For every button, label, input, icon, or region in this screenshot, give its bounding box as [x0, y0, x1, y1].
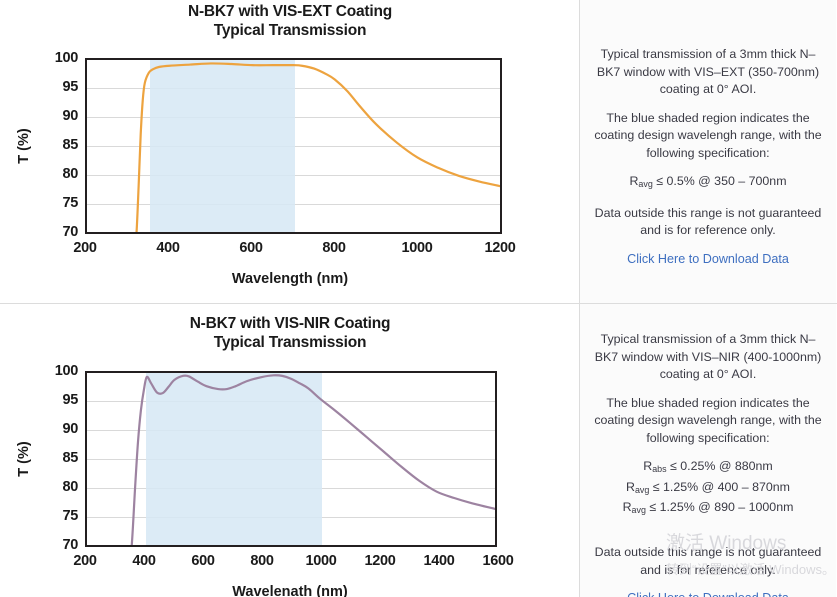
y-tick-90-1: 90: [34, 108, 78, 124]
download-data-link-1[interactable]: Click Here to Download Data: [627, 251, 789, 269]
y-tick-100-1: 100: [34, 50, 78, 66]
y-tick-70-1: 70: [34, 224, 78, 240]
y-tick-85-2: 85: [34, 450, 78, 466]
x-tick-600-2: 600: [173, 553, 233, 569]
x-tick-200-1: 200: [55, 240, 115, 256]
transmission-curve-vis-ext: [87, 60, 500, 232]
y-tick-75-1: 75: [34, 195, 78, 211]
chart-title-line1: N-BK7 with VIS-NIR Coating: [0, 314, 580, 333]
plot-area-vis-nir: [85, 371, 497, 547]
y-tick-95-1: 95: [34, 79, 78, 95]
y-tick-100-2: 100: [34, 363, 78, 379]
section-vis-nir: N-BK7 with VIS-NIR Coating Typical Trans…: [0, 303, 837, 597]
description-paragraph-2: The blue shaded region indicates the coa…: [592, 395, 824, 448]
y-tick-80-1: 80: [34, 166, 78, 182]
spacer: [592, 531, 824, 544]
y-tick-95-2: 95: [34, 392, 78, 408]
chart-title-line2: Typical Transmission: [0, 21, 580, 40]
x-tick-400-2: 400: [114, 553, 174, 569]
x-tick-1600-2: 1600: [468, 553, 528, 569]
x-axis-label-1: Wavelength (nm): [0, 271, 580, 287]
x-tick-1000-2: 1000: [291, 553, 351, 569]
y-tick-85-1: 85: [34, 137, 78, 153]
download-data-link-2[interactable]: Click Here to Download Data: [627, 590, 789, 597]
transmission-curve-vis-nir: [87, 373, 495, 545]
plot-frame-2: [85, 371, 497, 547]
x-tick-1000-1: 1000: [387, 240, 447, 256]
transmission-spec-page: N-BK7 with VIS-EXT Coating Typical Trans…: [0, 0, 837, 597]
text-pane-vis-ext: Typical transmission of a 3mm thick N–BK…: [580, 0, 836, 303]
plot-frame-1: [85, 58, 502, 234]
chart-title-vis-nir: N-BK7 with VIS-NIR Coating Typical Trans…: [0, 314, 580, 352]
x-tick-1200-2: 1200: [350, 553, 410, 569]
description-paragraph-1: Typical transmission of a 3mm thick N–BK…: [592, 46, 824, 99]
x-tick-200-2: 200: [55, 553, 115, 569]
x-tick-1400-2: 1400: [409, 553, 469, 569]
y-tick-70-2: 70: [34, 537, 78, 553]
specification-list-1: Ravg ≤ 0.5% @ 350 – 700nm: [592, 173, 824, 194]
chart-title-line2: Typical Transmission: [0, 333, 580, 352]
chart-pane-vis-ext: N-BK7 with VIS-EXT Coating Typical Trans…: [0, 0, 580, 303]
spec-line-2: Ravg ≤ 1.25% @ 400 – 870nm: [592, 479, 824, 500]
description-block-2: Typical transmission of a 3mm thick N–BK…: [592, 331, 824, 597]
y-tick-75-2: 75: [34, 508, 78, 524]
x-axis-label-2: Wavelenath (nm): [0, 584, 580, 597]
description-block-1: Typical transmission of a 3mm thick N–BK…: [592, 46, 824, 268]
description-paragraph-1: Typical transmission of a 3mm thick N–BK…: [592, 331, 824, 384]
x-tick-600-1: 600: [221, 240, 281, 256]
spec-line-1: Rabs ≤ 0.25% @ 880nm: [592, 458, 824, 479]
specification-list-2: Rabs ≤ 0.25% @ 880nmRavg ≤ 1.25% @ 400 –…: [592, 458, 824, 520]
y-tick-90-2: 90: [34, 421, 78, 437]
y-axis-label-2: T (%): [16, 429, 32, 489]
spec-line-3: Ravg ≤ 1.25% @ 890 – 1000nm: [592, 499, 824, 520]
x-tick-800-1: 800: [304, 240, 364, 256]
x-tick-800-2: 800: [232, 553, 292, 569]
x-tick-1200-1: 1200: [470, 240, 530, 256]
chart-pane-vis-nir: N-BK7 with VIS-NIR Coating Typical Trans…: [0, 304, 580, 597]
chart-title-vis-ext: N-BK7 with VIS-EXT Coating Typical Trans…: [0, 2, 580, 40]
x-tick-400-1: 400: [138, 240, 198, 256]
spec-line-1: Ravg ≤ 0.5% @ 350 – 700nm: [592, 173, 824, 194]
disclaimer-text-2: Data outside this range is not guarantee…: [592, 544, 824, 579]
chart-title-line1: N-BK7 with VIS-EXT Coating: [0, 2, 580, 21]
plot-area-vis-ext: [85, 58, 502, 234]
description-paragraph-2: The blue shaded region indicates the coa…: [592, 110, 824, 163]
y-tick-80-2: 80: [34, 479, 78, 495]
y-axis-label-1: T (%): [16, 116, 32, 176]
text-pane-vis-nir: Typical transmission of a 3mm thick N–BK…: [580, 304, 836, 597]
disclaimer-text-1: Data outside this range is not guarantee…: [592, 205, 824, 240]
section-vis-ext: N-BK7 with VIS-EXT Coating Typical Trans…: [0, 0, 837, 303]
